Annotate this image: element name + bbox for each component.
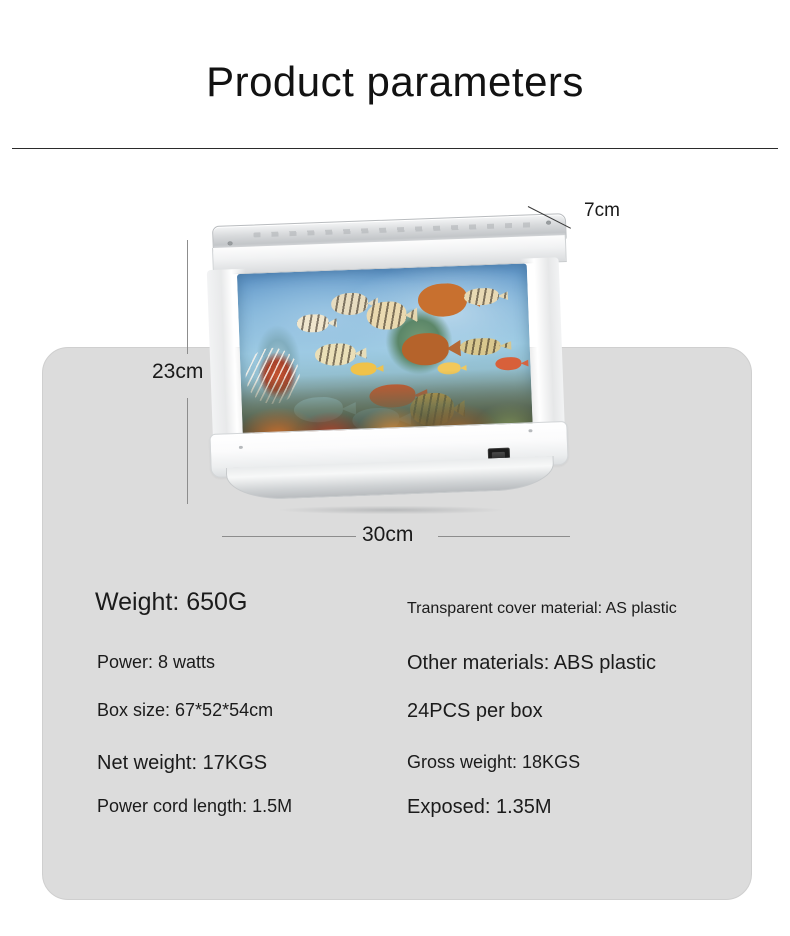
fish-icon bbox=[331, 293, 369, 316]
fish-icon bbox=[315, 343, 356, 366]
spec-pcs-per-box: 24PCS per box bbox=[407, 700, 543, 723]
page-title: Product parameters bbox=[0, 58, 790, 106]
spec-other-materials: Other materials: ABS plastic bbox=[407, 652, 656, 675]
aquarium-glass bbox=[237, 263, 533, 440]
dimension-width-label: 30cm bbox=[362, 523, 413, 547]
fish-icon bbox=[464, 288, 499, 306]
dimension-depth-label: 7cm bbox=[584, 200, 620, 222]
spec-box-size: Box size: 67*52*54cm bbox=[97, 700, 273, 721]
product-shadow bbox=[233, 504, 549, 516]
spec-power-cord-length: Power cord length: 1.5M bbox=[97, 796, 292, 817]
fish-icon bbox=[460, 338, 501, 356]
width-line-right bbox=[438, 536, 570, 537]
vent-slots-icon bbox=[253, 222, 539, 237]
title-divider bbox=[12, 148, 778, 149]
product-image bbox=[205, 218, 585, 523]
aquarium-lamp-icon bbox=[205, 218, 585, 523]
height-line-lower bbox=[187, 398, 188, 504]
spec-net-weight: Net weight: 17KGS bbox=[97, 752, 267, 775]
spec-power: Power: 8 watts bbox=[97, 652, 215, 673]
height-line-upper bbox=[187, 240, 188, 354]
screw-icon bbox=[546, 221, 551, 225]
screw-icon bbox=[239, 446, 243, 449]
spec-exposed: Exposed: 1.35M bbox=[407, 796, 552, 819]
spec-weight-primary: Weight: 650G bbox=[95, 588, 247, 617]
width-line-left bbox=[222, 536, 356, 537]
product-parameters-page: Product parameters bbox=[0, 0, 790, 936]
spec-gross-weight: Gross weight: 18KGS bbox=[407, 752, 580, 773]
spec-transparent-cover-material: Transparent cover material: AS plastic bbox=[407, 600, 677, 618]
screw-icon bbox=[228, 241, 233, 245]
dimension-height-label: 23cm bbox=[152, 360, 203, 384]
screw-icon bbox=[528, 429, 532, 432]
fish-icon bbox=[296, 314, 329, 333]
